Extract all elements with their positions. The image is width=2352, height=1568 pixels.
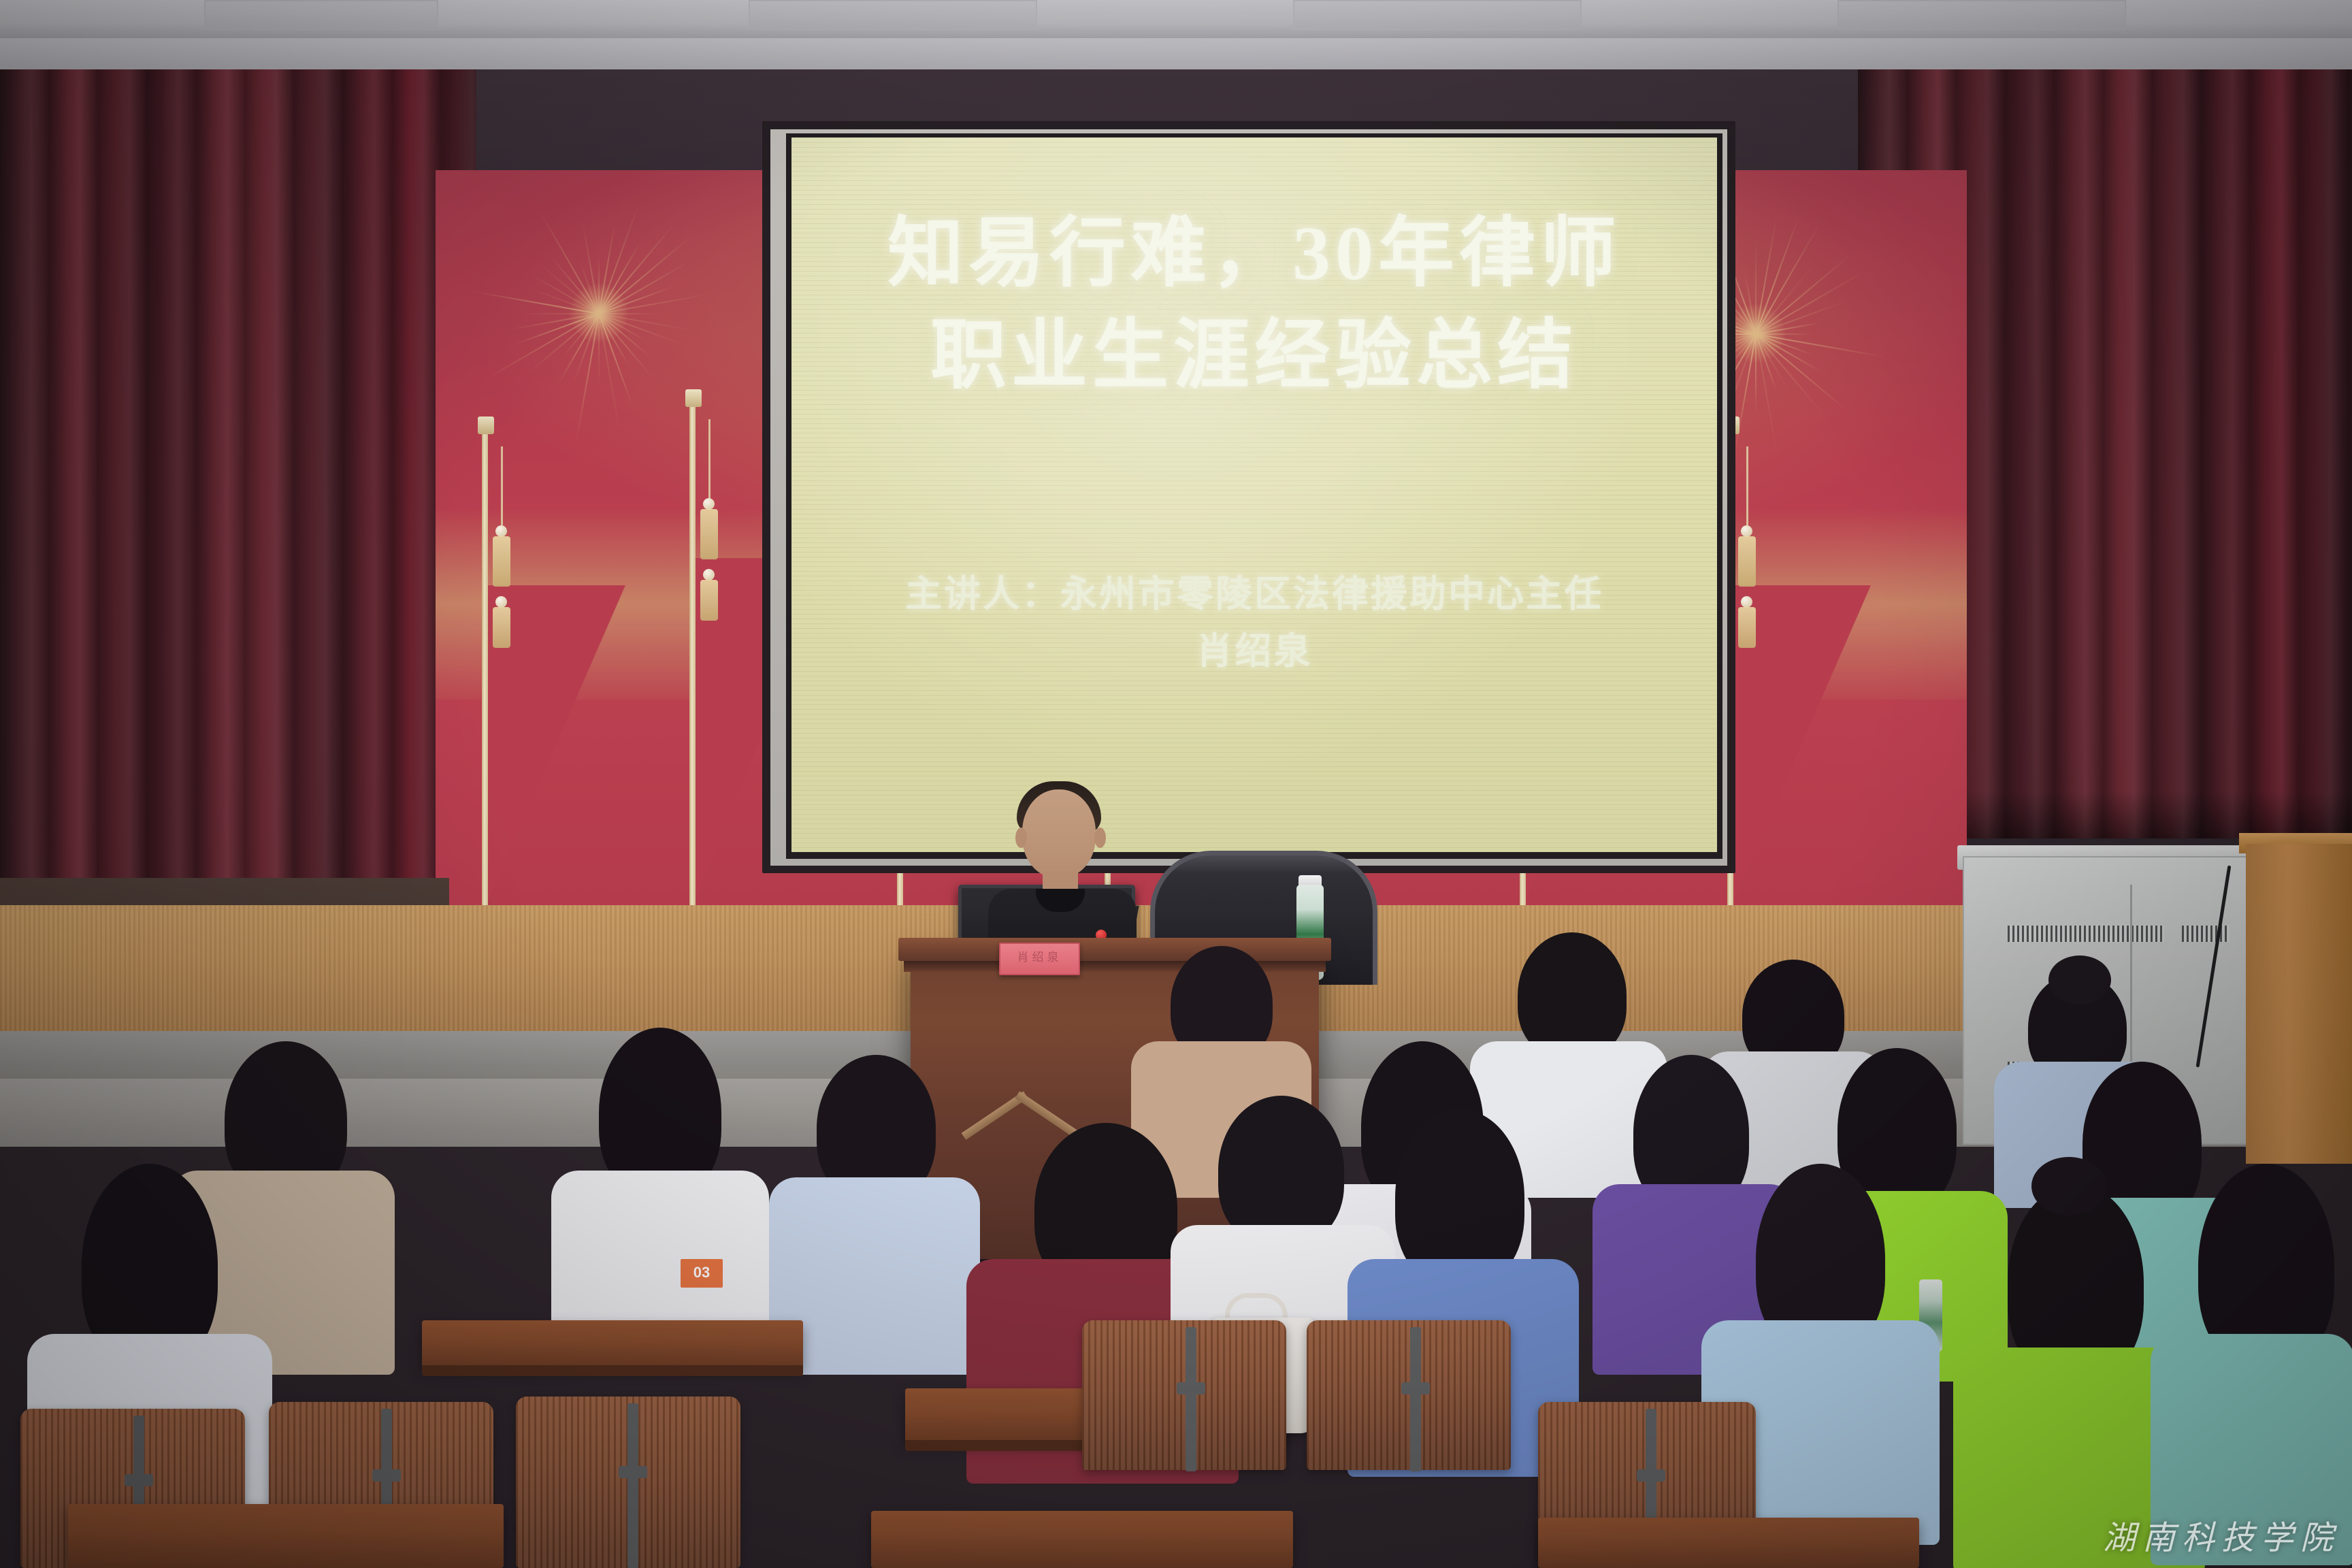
banner-flag: [476, 429, 633, 905]
speaker-ear-left: [1015, 828, 1027, 848]
slide-subtitle: 主讲人：永州市零陵区法律援助中心主任 肖绍泉: [791, 566, 1717, 680]
list-item: [1518, 932, 1627, 1058]
photo-scene: 知易行难，30年律师 职业生涯经验总结 主讲人：永州市零陵区法律援助中心主任 肖…: [0, 0, 2352, 1568]
ceiling: [0, 0, 2352, 38]
slide-title: 知易行难，30年律师 职业生涯经验总结: [791, 203, 1717, 407]
slide-subtitle-line-2: 肖绍泉: [791, 623, 1717, 681]
list-item: [2048, 955, 2111, 1004]
speaker-head: [1022, 789, 1096, 878]
seat: [1307, 1320, 1511, 1470]
banner-flag: [1722, 429, 1878, 905]
slide-title-line-1: 知易行难，30年律师: [791, 203, 1717, 305]
speaker-ear-right: [1094, 828, 1106, 848]
list-item: [2031, 1157, 2106, 1215]
slide-subtitle-line-1: 主讲人：永州市零陵区法律援助中心主任: [791, 566, 1717, 623]
seat: [1082, 1320, 1286, 1470]
list-item: [1218, 1096, 1344, 1245]
desk: [422, 1320, 803, 1368]
ceiling-band: [0, 38, 2352, 69]
desk: [68, 1504, 504, 1568]
watermark: 湖南科技学院: [2103, 1511, 2340, 1558]
audience: 03: [0, 939, 2352, 1568]
desk: [1538, 1518, 1919, 1568]
desk: [871, 1511, 1293, 1568]
slide-title-line-2: 职业生涯经验总结: [791, 305, 1717, 407]
desk-number-card: 03: [681, 1259, 723, 1288]
projected-slide: 知易行难，30年律师 职业生涯经验总结 主讲人：永州市零陵区法律援助中心主任 肖…: [791, 137, 1717, 852]
